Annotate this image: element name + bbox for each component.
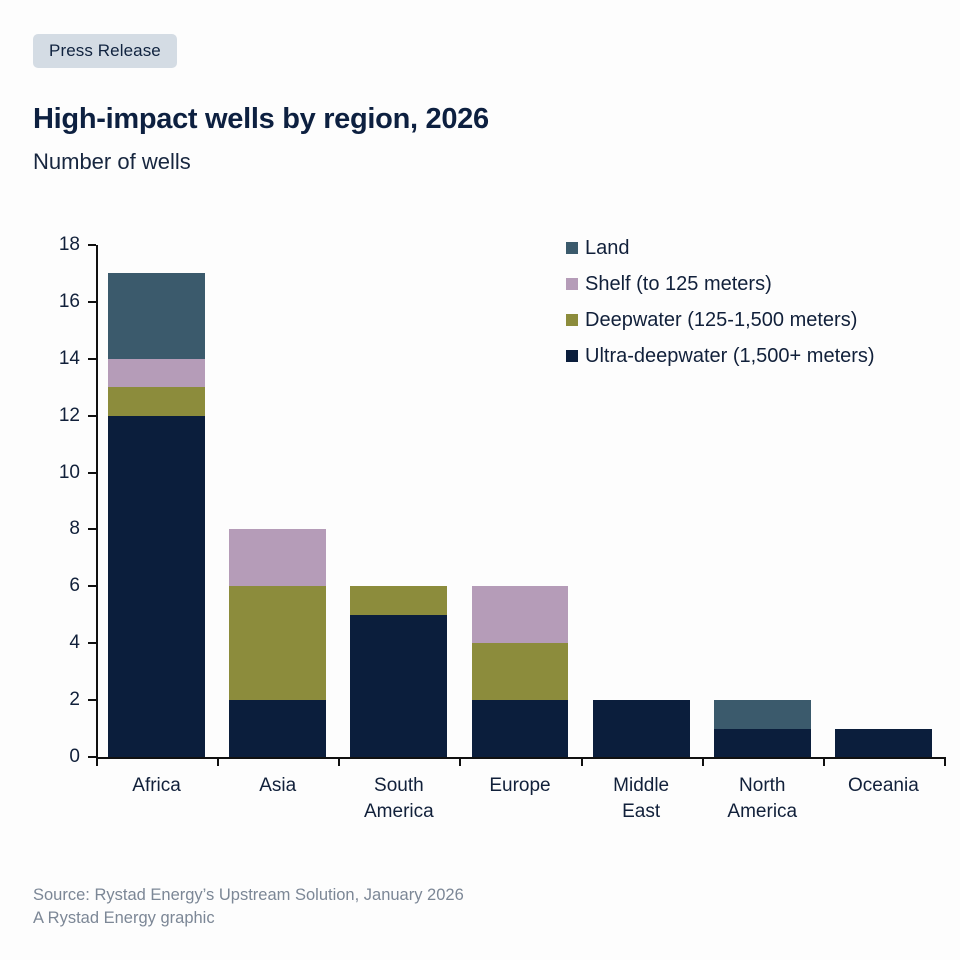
- legend-item-label: Land: [585, 238, 630, 258]
- bar-segment[interactable]: [714, 729, 811, 757]
- bar-stack[interactable]: [108, 245, 205, 757]
- x-axis-category-label-line: America: [702, 799, 823, 825]
- bar-segment[interactable]: [108, 359, 205, 387]
- y-axis-tick-label: 12: [36, 406, 80, 425]
- y-axis-tick-label: 16: [36, 292, 80, 311]
- x-axis-category-label: SouthAmerica: [338, 773, 459, 824]
- bar-segment[interactable]: [350, 586, 447, 614]
- y-axis-tick-labels: 024681012141618: [36, 245, 80, 757]
- legend-swatch-icon: [566, 350, 578, 362]
- bar-segment[interactable]: [350, 615, 447, 757]
- source-text: Source: Rystad Energy’s Upstream Solutio…: [33, 884, 464, 907]
- y-axis-tick: [88, 415, 96, 417]
- chart-legend: LandShelf (to 125 meters)Deepwater (125-…: [566, 234, 875, 378]
- y-axis-line: [96, 245, 98, 757]
- x-axis-category-label-line: Middle: [581, 773, 702, 799]
- bar-stack[interactable]: [472, 245, 569, 757]
- x-axis-category-label-line: Asia: [217, 773, 338, 799]
- x-axis-tick: [459, 757, 461, 766]
- x-axis-category-label: Europe: [459, 773, 580, 799]
- x-axis-category-label-line: Africa: [96, 773, 217, 799]
- x-axis-category-label: NorthAmerica: [702, 773, 823, 824]
- y-axis-tick: [88, 358, 96, 360]
- chart-footer: Source: Rystad Energy’s Upstream Solutio…: [33, 884, 464, 931]
- y-axis-tick-label: 4: [36, 633, 80, 652]
- x-axis-tick: [702, 757, 704, 766]
- bar-segment[interactable]: [472, 700, 569, 757]
- bar-segment[interactable]: [229, 586, 326, 700]
- bar-stack[interactable]: [350, 245, 447, 757]
- y-axis-tick-label: 6: [36, 576, 80, 595]
- legend-swatch-icon: [566, 278, 578, 290]
- x-axis-category-label-line: Europe: [459, 773, 580, 799]
- y-axis-tick: [88, 699, 96, 701]
- legend-item[interactable]: Ultra-deepwater (1,500+ meters): [566, 342, 875, 369]
- x-axis-tick: [823, 757, 825, 766]
- x-axis-tick: [217, 757, 219, 766]
- x-axis-tick: [581, 757, 583, 766]
- y-axis-tick: [88, 642, 96, 644]
- x-axis-category-label: Africa: [96, 773, 217, 799]
- bar-segment[interactable]: [229, 529, 326, 586]
- x-axis-category-label: MiddleEast: [581, 773, 702, 824]
- legend-item[interactable]: Land: [566, 234, 875, 261]
- page-title: High-impact wells by region, 2026: [33, 104, 489, 134]
- y-axis-tick-label: 8: [36, 519, 80, 538]
- legend-swatch-icon: [566, 242, 578, 254]
- y-axis-tick-label: 18: [36, 235, 80, 254]
- bar-segment[interactable]: [593, 700, 690, 757]
- bar-segment[interactable]: [229, 700, 326, 757]
- y-axis-tick-label: 14: [36, 349, 80, 368]
- x-axis-category-label-line: North: [702, 773, 823, 799]
- y-axis-tick: [88, 301, 96, 303]
- bar-segment[interactable]: [472, 586, 569, 643]
- y-axis-tick: [88, 528, 96, 530]
- legend-item-label: Shelf (to 125 meters): [585, 274, 772, 294]
- legend-item-label: Ultra-deepwater (1,500+ meters): [585, 346, 875, 366]
- x-axis-line: [96, 757, 944, 759]
- legend-swatch-icon: [566, 314, 578, 326]
- credit-text: A Rystad Energy graphic: [33, 907, 464, 930]
- press-release-badge-label: Press Release: [49, 41, 161, 60]
- x-axis-category-label-line: America: [338, 799, 459, 825]
- bar-segment[interactable]: [714, 700, 811, 728]
- press-release-badge: Press Release: [33, 34, 177, 68]
- bar-stack[interactable]: [229, 245, 326, 757]
- y-axis-tick: [88, 585, 96, 587]
- bar-segment[interactable]: [108, 416, 205, 757]
- x-axis-tick: [944, 757, 946, 766]
- legend-item[interactable]: Shelf (to 125 meters): [566, 270, 875, 297]
- bar-segment[interactable]: [108, 387, 205, 415]
- bar-segment[interactable]: [472, 643, 569, 700]
- y-axis-tick: [88, 756, 96, 758]
- x-axis-category-label: Asia: [217, 773, 338, 799]
- legend-item-label: Deepwater (125-1,500 meters): [585, 310, 857, 330]
- y-axis-tick-label: 10: [36, 463, 80, 482]
- y-axis-tick: [88, 244, 96, 246]
- legend-item[interactable]: Deepwater (125-1,500 meters): [566, 306, 875, 333]
- x-axis-tick: [96, 757, 98, 766]
- bar-segment[interactable]: [108, 273, 205, 358]
- x-axis-tick: [338, 757, 340, 766]
- y-axis-tick-label: 2: [36, 690, 80, 709]
- y-axis-tick-label: 0: [36, 747, 80, 766]
- y-axis-tick: [88, 472, 96, 474]
- x-axis-category-label-line: Oceania: [823, 773, 944, 799]
- x-axis-category-label-line: East: [581, 799, 702, 825]
- page-subtitle: Number of wells: [33, 150, 191, 174]
- x-axis-category-label: Oceania: [823, 773, 944, 799]
- x-axis-category-label-line: South: [338, 773, 459, 799]
- bar-segment[interactable]: [835, 729, 932, 757]
